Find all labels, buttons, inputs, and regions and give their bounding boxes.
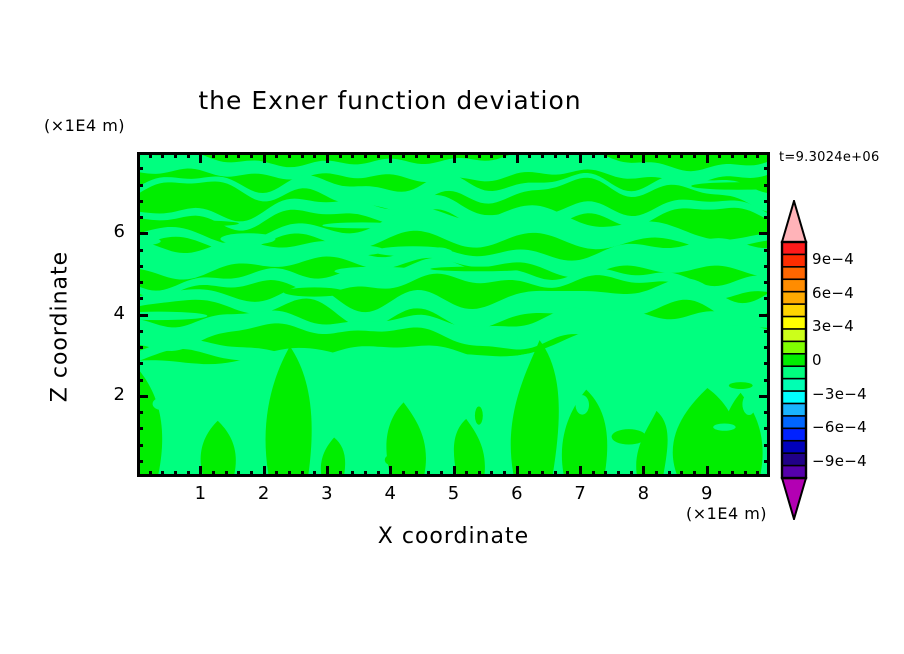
x-minor-tick bbox=[440, 471, 443, 477]
x-major-tick-top bbox=[453, 152, 456, 163]
x-minor-tick bbox=[655, 471, 658, 477]
colorbar-segment bbox=[782, 428, 806, 441]
x-major-tick bbox=[516, 466, 519, 477]
x-tick-label: 7 bbox=[560, 483, 600, 504]
x-minor-tick-top bbox=[275, 152, 278, 158]
x-major-tick-top bbox=[326, 152, 329, 163]
y-tick-label: 4 bbox=[85, 303, 125, 324]
x-tick-label: 2 bbox=[244, 483, 284, 504]
y-minor-tick bbox=[137, 346, 143, 349]
x-minor-tick bbox=[187, 471, 190, 477]
contour-wisp bbox=[141, 220, 239, 226]
colorbar-segment bbox=[782, 366, 806, 379]
y-minor-tick bbox=[137, 444, 143, 447]
x-major-tick-top bbox=[263, 152, 266, 163]
colorbar-segment bbox=[782, 292, 806, 305]
x-minor-tick bbox=[339, 471, 342, 477]
colorbar-segment bbox=[782, 304, 806, 317]
y-major-tick-right bbox=[759, 232, 770, 235]
x-major-tick-top bbox=[706, 152, 709, 163]
x-tick-label: 3 bbox=[307, 483, 347, 504]
x-major-tick-top bbox=[642, 152, 645, 163]
contour-island bbox=[276, 452, 306, 467]
x-minor-tick-top bbox=[554, 152, 557, 158]
colorbar-segment bbox=[782, 317, 806, 330]
x-minor-tick-top bbox=[377, 152, 380, 158]
x-minor-tick-top bbox=[680, 152, 683, 158]
x-minor-tick bbox=[718, 471, 721, 477]
y-minor-tick bbox=[137, 200, 143, 203]
x-tick-label: 4 bbox=[370, 483, 410, 504]
contour-field bbox=[140, 155, 767, 474]
x-minor-tick bbox=[161, 471, 164, 477]
colorbar-segment bbox=[782, 391, 806, 404]
y-minor-tick bbox=[137, 460, 143, 463]
y-minor-tick bbox=[137, 362, 143, 365]
x-minor-tick bbox=[478, 471, 481, 477]
x-minor-tick-top bbox=[427, 152, 430, 158]
x-minor-tick-top bbox=[187, 152, 190, 158]
contour-wisp bbox=[430, 267, 526, 272]
x-minor-tick-top bbox=[630, 152, 633, 158]
colorbar-tick-label: −6e−4 bbox=[812, 418, 867, 436]
x-tick-label: 9 bbox=[687, 483, 727, 504]
x-minor-tick bbox=[490, 471, 493, 477]
contour-island bbox=[742, 394, 755, 415]
x-minor-tick bbox=[288, 471, 291, 477]
colorbar-segment bbox=[782, 242, 806, 255]
colorbar-segment bbox=[782, 403, 806, 416]
x-minor-tick-top bbox=[490, 152, 493, 158]
x-major-tick bbox=[579, 466, 582, 477]
x-minor-tick bbox=[693, 471, 696, 477]
contour-island bbox=[424, 395, 437, 412]
colorbar-segment bbox=[782, 379, 806, 392]
x-minor-tick-top bbox=[604, 152, 607, 158]
y-minor-tick bbox=[137, 184, 143, 187]
y-minor-tick bbox=[137, 265, 143, 268]
x-minor-tick-top bbox=[237, 152, 240, 158]
contour-wisp bbox=[429, 247, 451, 256]
x-minor-tick bbox=[554, 471, 557, 477]
x-minor-tick-top bbox=[592, 152, 595, 158]
colorbar-tick-label: 6e−4 bbox=[812, 284, 854, 302]
colorbar-segment bbox=[782, 466, 806, 479]
contour-island bbox=[713, 423, 735, 430]
y-minor-tick bbox=[137, 216, 143, 219]
x-axis-unit-label: (×1E4 m) bbox=[686, 504, 767, 523]
x-minor-tick bbox=[668, 471, 671, 477]
x-minor-tick-top bbox=[288, 152, 291, 158]
x-minor-tick bbox=[301, 471, 304, 477]
x-minor-tick-top bbox=[655, 152, 658, 158]
x-minor-tick bbox=[503, 471, 506, 477]
figure-canvas: the Exner function deviation (×1E4 m) t=… bbox=[0, 0, 904, 654]
x-minor-tick bbox=[275, 471, 278, 477]
contour-wisp bbox=[284, 287, 345, 296]
x-minor-tick bbox=[237, 471, 240, 477]
x-minor-tick bbox=[415, 471, 418, 477]
x-minor-tick-top bbox=[528, 152, 531, 158]
time-annotation: t=9.3024e+06 bbox=[779, 150, 880, 165]
contour-island bbox=[382, 352, 394, 363]
contour-island bbox=[502, 333, 518, 345]
x-axis-title: X coordinate bbox=[137, 524, 770, 549]
x-minor-tick bbox=[351, 471, 354, 477]
y-major-tick bbox=[137, 395, 148, 398]
x-minor-tick-top bbox=[478, 152, 481, 158]
x-minor-tick-top bbox=[250, 152, 253, 158]
x-minor-tick-top bbox=[351, 152, 354, 158]
x-minor-tick bbox=[731, 471, 734, 477]
x-minor-tick-top bbox=[756, 152, 759, 158]
contour-wisp bbox=[319, 245, 384, 256]
x-minor-tick-top bbox=[566, 152, 569, 158]
y-minor-tick bbox=[137, 249, 143, 252]
y-minor-tick bbox=[137, 427, 143, 430]
x-minor-tick-top bbox=[339, 152, 342, 158]
contour-wisp bbox=[322, 222, 401, 228]
colorbar-segment bbox=[782, 329, 806, 342]
x-minor-tick-top bbox=[693, 152, 696, 158]
x-minor-tick bbox=[402, 471, 405, 477]
contour-island bbox=[226, 373, 263, 389]
x-minor-tick bbox=[617, 471, 620, 477]
y-major-tick bbox=[137, 314, 148, 317]
y-major-tick-right bbox=[759, 314, 770, 317]
contour-wisp bbox=[518, 193, 598, 200]
contour-wisp bbox=[220, 233, 275, 244]
x-minor-tick bbox=[528, 471, 531, 477]
x-minor-tick bbox=[566, 471, 569, 477]
contour-island bbox=[612, 429, 646, 444]
x-major-tick bbox=[453, 466, 456, 477]
colorbar-segment bbox=[782, 441, 806, 454]
colorbar-over-arrow bbox=[782, 201, 806, 242]
y-minor-tick-right bbox=[764, 167, 770, 170]
contour-island bbox=[385, 454, 404, 466]
colorbar-tick-label: 9e−4 bbox=[812, 250, 854, 268]
x-minor-tick bbox=[377, 471, 380, 477]
contour-island bbox=[434, 339, 450, 346]
contour-wisp bbox=[335, 267, 418, 276]
colorbar-segment bbox=[782, 416, 806, 429]
y-tick-label: 2 bbox=[85, 384, 125, 405]
x-minor-tick bbox=[225, 471, 228, 477]
x-major-tick bbox=[199, 466, 202, 477]
colorbar-segment bbox=[782, 453, 806, 466]
colorbar-tick-label: 0 bbox=[812, 351, 822, 369]
x-minor-tick bbox=[630, 471, 633, 477]
colorbar-segment bbox=[782, 354, 806, 367]
x-minor-tick-top bbox=[617, 152, 620, 158]
x-major-tick bbox=[263, 466, 266, 477]
y-minor-tick bbox=[137, 281, 143, 284]
x-minor-tick bbox=[427, 471, 430, 477]
x-tick-label: 6 bbox=[497, 483, 537, 504]
x-major-tick-top bbox=[516, 152, 519, 163]
x-minor-tick-top bbox=[744, 152, 747, 158]
colorbar-tick-label: −9e−4 bbox=[812, 452, 867, 470]
x-minor-tick bbox=[174, 471, 177, 477]
contour-island bbox=[153, 398, 170, 410]
colorbar-tick-label: −3e−4 bbox=[812, 385, 867, 403]
contour-wisp bbox=[407, 223, 448, 228]
x-minor-tick bbox=[212, 471, 215, 477]
x-minor-tick-top bbox=[174, 152, 177, 158]
contour-island bbox=[475, 406, 483, 424]
x-minor-tick bbox=[756, 471, 759, 477]
x-minor-tick-top bbox=[301, 152, 304, 158]
y-major-tick-right bbox=[759, 395, 770, 398]
x-minor-tick-top bbox=[503, 152, 506, 158]
y-minor-tick bbox=[137, 167, 143, 170]
colorbar-tick-label: 3e−4 bbox=[812, 317, 854, 335]
colorbar-segment bbox=[782, 341, 806, 354]
x-major-tick bbox=[326, 466, 329, 477]
y-minor-tick bbox=[137, 379, 143, 382]
x-minor-tick bbox=[149, 471, 152, 477]
x-minor-tick-top bbox=[149, 152, 152, 158]
x-minor-tick-top bbox=[225, 152, 228, 158]
x-minor-tick-top bbox=[313, 152, 316, 158]
x-minor-tick bbox=[604, 471, 607, 477]
x-tick-label: 8 bbox=[623, 483, 663, 504]
y-minor-tick bbox=[137, 411, 143, 414]
y-axis-title: Z coordinate bbox=[48, 207, 73, 447]
x-minor-tick bbox=[250, 471, 253, 477]
contour-island bbox=[729, 382, 753, 389]
colorbar-segment bbox=[782, 279, 806, 292]
x-major-tick bbox=[642, 466, 645, 477]
x-minor-tick-top bbox=[415, 152, 418, 158]
y-minor-tick bbox=[137, 297, 143, 300]
x-tick-label: 5 bbox=[434, 483, 474, 504]
y-tick-label: 6 bbox=[85, 221, 125, 242]
x-minor-tick-top bbox=[668, 152, 671, 158]
x-minor-tick-top bbox=[465, 152, 468, 158]
x-minor-tick-top bbox=[161, 152, 164, 158]
x-major-tick-top bbox=[389, 152, 392, 163]
y-axis-unit-label: (×1E4 m) bbox=[44, 116, 125, 135]
colorbar-segment bbox=[782, 267, 806, 280]
x-minor-tick bbox=[313, 471, 316, 477]
plot-area bbox=[137, 152, 770, 477]
x-minor-tick bbox=[680, 471, 683, 477]
x-major-tick-top bbox=[199, 152, 202, 163]
contour-island bbox=[568, 369, 606, 383]
contour-island bbox=[576, 395, 589, 414]
x-minor-tick-top bbox=[440, 152, 443, 158]
x-major-tick bbox=[706, 466, 709, 477]
y-minor-tick bbox=[137, 330, 143, 333]
x-minor-tick bbox=[592, 471, 595, 477]
x-minor-tick-top bbox=[364, 152, 367, 158]
x-minor-tick bbox=[465, 471, 468, 477]
x-major-tick bbox=[389, 466, 392, 477]
x-minor-tick-top bbox=[731, 152, 734, 158]
x-minor-tick bbox=[744, 471, 747, 477]
y-major-tick bbox=[137, 232, 148, 235]
x-major-tick-top bbox=[579, 152, 582, 163]
x-minor-tick-top bbox=[718, 152, 721, 158]
x-minor-tick bbox=[541, 471, 544, 477]
x-minor-tick-top bbox=[541, 152, 544, 158]
colorbar-segment bbox=[782, 254, 806, 267]
colorbar-under-arrow bbox=[782, 478, 806, 519]
x-minor-tick-top bbox=[212, 152, 215, 158]
y-minor-tick-right bbox=[764, 184, 770, 187]
x-minor-tick bbox=[364, 471, 367, 477]
x-tick-label: 1 bbox=[180, 483, 220, 504]
chart-title: the Exner function deviation bbox=[0, 86, 780, 115]
x-minor-tick-top bbox=[402, 152, 405, 158]
contour-island bbox=[259, 327, 289, 339]
